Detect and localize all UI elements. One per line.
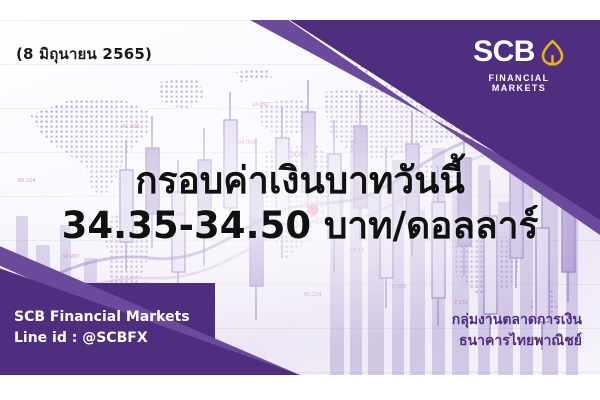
- footer-right: กลุ่มงานตลาดการเงิน ธนาคารไทยพาณิชย์: [452, 310, 582, 351]
- publication-date: (8 มิถุนายน 2565): [16, 42, 152, 66]
- headline-line-2: 34.35-34.50 บาท/ดอลลาร์: [0, 205, 600, 246]
- scb-logo-subtitle: FINANCIAL MARKETS: [460, 73, 578, 93]
- headline: กรอบค่าเงินบาทวันนี้ 34.35-34.50 บาท/ดอล…: [0, 160, 600, 247]
- footer-right-line-2: ธนาคารไทยพาณิชย์: [452, 331, 582, 351]
- scb-wordmark: SCB: [473, 37, 535, 67]
- scb-leaf-icon: [540, 39, 565, 66]
- scb-fx-banner: 41.905 24.897 34.982 34.095 85.224 32.69…: [0, 20, 600, 375]
- footer-left: SCB Financial Markets Line id : @SCBFX: [14, 307, 190, 349]
- footer-right-line-1: กลุ่มงานตลาดการเงิน: [452, 310, 582, 330]
- headline-line-1: กรอบค่าเงินบาทวันนี้: [0, 160, 600, 201]
- scb-logo-row: SCB: [460, 37, 578, 67]
- scb-logo: SCB FINANCIAL MARKETS: [460, 37, 578, 93]
- screenshot-stage: 41.905 24.897 34.982 34.095 85.224 32.69…: [0, 0, 600, 400]
- footer-left-line-2: Line id : @SCBFX: [14, 328, 190, 349]
- footer-left-line-1: SCB Financial Markets: [14, 307, 190, 328]
